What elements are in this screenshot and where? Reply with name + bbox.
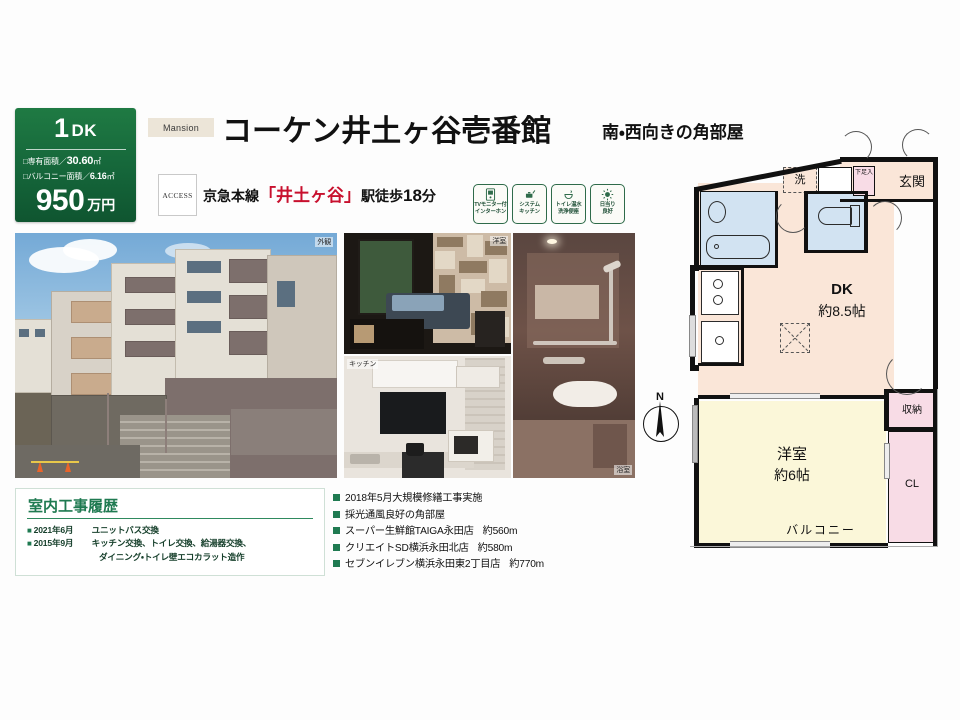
price-amount: 950 [36,184,85,217]
plan-label-storage: 収納 [888,401,936,416]
photo-label-exterior: 外観 [315,237,333,247]
building-name: コーケン井土ヶ谷壱番館 [222,106,551,150]
ceiling-light [547,239,557,244]
bath-door [593,424,627,468]
cardboard-box [354,325,374,343]
exclusive-area-line: □専有面積／30.60㎡ [15,154,136,170]
layout-type: 1DK [15,108,136,142]
shower-rail [609,269,613,345]
cloud-shape [63,239,117,261]
renovation-date: 2021年6月 [34,524,92,537]
photo-exterior: 外観 [15,233,337,478]
wall-niche [535,285,599,319]
renovation-rule [27,518,313,519]
balcony-edge-top [690,546,938,547]
wall-kitchen-right [741,267,744,365]
highlight-distance: 約580m [478,541,513,558]
photo-kitchen: キッチン [344,356,511,478]
photo-label-bath: 浴室 [614,465,632,475]
highlight-text: クリエイトSD横浜永田北店 [345,541,469,558]
feature-badge-group: TVモニター付インターホン システムキッチン トイレ温水洗浄便座 日当り良好 [473,184,625,224]
balcony-block [125,277,181,293]
layout-rooms: 1 [54,113,70,143]
window-kitchen [689,315,696,357]
bullet-square-icon [333,527,340,534]
price-unit: 万円 [87,197,115,213]
wall-panel [378,390,448,436]
list-item: スーパー生鮮館TAIGA永田店 約560m [333,524,633,541]
toilet-fixture [818,207,852,225]
wall-bath-right [775,191,778,268]
exclusive-area-unit: ㎡ [93,157,101,166]
window-shape [187,261,221,273]
price-main: 950万円 [15,186,136,216]
building-subtitle: 南・西向きの角部屋 [602,118,744,143]
renovation-title: 室内工事履歴 [28,495,118,516]
door-swing-top-right [902,129,934,161]
renovation-date: 2015年9月 [34,537,92,550]
feature-label-toilet: トイレ温水洗浄便座 [556,202,582,216]
price-summary-box: 1DK □専有面積／30.60㎡ □バルコニー面積／6.16㎡ 950万円 [15,108,136,222]
floor-plan: 洗 下足入 玄関 DK 約8.5帖 洋室 約6帖 収納 CL [690,143,948,543]
wall-kitchen-bottom [698,363,744,366]
stove-fixture [701,271,739,315]
access-badge: ACCESS [158,174,197,216]
wall-left-upper [694,187,699,265]
plan-label-shoe-box: 下足入 [853,170,875,177]
renovation-item: ■2015年9月キッチン交換、トイレ交換、給湯器交換、 [27,537,319,550]
faucet [543,357,585,364]
door-swing-room [886,353,928,395]
feature-badge-intercom: TVモニター付インターホン [473,184,508,224]
plan-label-balcony: バルコニー [746,521,896,538]
shelf-rack [475,311,505,347]
highlight-text: スーパー生鮮館TAIGA永田店 [345,524,474,541]
plan-area-vestibule [818,167,852,193]
burner-fixture [713,279,723,289]
bullet-square-icon [333,544,340,551]
bike-parking-wall [231,409,337,455]
renovation-work: ユニットバス交換 [92,525,159,535]
window-room-left [692,405,698,463]
photo-label-kitchen: キッチン [347,359,378,369]
property-category-tag: Mansion [148,118,214,137]
window-shape [35,329,45,337]
window-shape [187,321,221,333]
renovation-work: キッチン交換、トイレ交換、給湯器交換、 [92,538,251,548]
wall-storage-left [884,389,888,431]
bullet-square-icon [333,494,340,501]
upper-cabinet [372,360,458,388]
exclusive-area-value: 30.60 [67,155,94,167]
plan-label-closet: CL [888,478,936,490]
cone-bar [31,461,79,463]
toilet-tank-fixture [850,205,860,227]
balcony-area-value: 6.16 [90,171,107,181]
wall-bath-bottom [698,265,778,268]
feature-label-sunshine: 日当り良好 [600,202,616,216]
balcony-edge-right [937,389,938,547]
window-shape [187,291,221,303]
layout-suffix: DK [71,121,97,140]
exclusive-area-label: □専有面積／ [23,157,67,166]
balcony-area-unit: ㎡ [107,172,115,181]
wall-right-upper [933,157,938,389]
plan-room-name-dk: DK [802,281,882,298]
wall-toilet-top [804,191,868,194]
intercom-monitor-icon [483,187,498,201]
apartment-block-right [267,255,337,385]
property-highlights-list: 2018年5月大規模修繕工事実施 採光通風良好の角部屋 スーパー生鮮館TAIGA… [333,491,633,574]
door-swing-bath [776,199,810,233]
sink-drain-fixture [715,336,724,345]
renovation-history-panel: 室内工事履歴 ■2021年6月ユニットバス交換 ■2015年9月キッチン交換、ト… [15,488,325,576]
door-swing-entry [868,201,902,235]
window-closet [884,443,890,479]
list-item: セブンイレブン横浜永田東2丁目店 約770m [333,557,633,574]
balcony-area-line: □バルコニー面積／6.16㎡ [15,170,136,183]
access-walk-suffix: 分 [422,188,436,204]
renovation-item-cont: ダイニング・トイレ壁エコカラット造作 [27,551,319,564]
balcony-block [71,373,115,395]
wall-toilet-bottom [804,250,868,253]
list-item: 2018年5月大規模修繕工事実施 [333,491,633,508]
plan-label-entrance: 玄関 [890,171,934,190]
drain-fixture [714,244,719,249]
access-line-name: 京急本線 [203,188,259,204]
highlight-distance: 約560m [483,524,518,541]
bullet-square-icon [333,511,340,518]
window-shape [19,329,29,337]
price-divider [26,149,126,150]
flyer-page: 1DK □専有面積／30.60㎡ □バルコニー面積／6.16㎡ 950万円 Ma… [0,0,960,720]
microwave-rack [448,430,494,462]
window-shape [277,281,295,307]
towel-bar [533,341,617,345]
access-description: 京急本線「井土ヶ谷」駅徒歩18分 [203,181,436,206]
range-hood [456,366,500,388]
photo-bathroom: 浴室 [513,233,635,478]
feature-badge-kitchen: システムキッチン [512,184,547,224]
wash-basin [553,381,617,407]
access-station-name: 「井土ヶ谷」 [259,186,361,205]
bullet-square-icon [333,560,340,567]
photo-label-room: 洋室 [490,236,508,246]
system-kitchen-icon [522,187,537,201]
access-walk-minutes: 18 [403,186,422,205]
plan-room-size-dk: 約8.5帖 [794,301,890,321]
plan-room-size-washitsu: 約6帖 [748,465,836,485]
sunshine-icon [600,187,615,201]
bedding [392,295,444,311]
highlight-text: 採光通風良好の角部屋 [345,508,445,525]
basin-fixture [708,201,726,223]
renovation-list: ■2021年6月ユニットバス交換 ■2015年9月キッチン交換、トイレ交換、給湯… [27,524,319,564]
window-dk-divider [730,393,820,399]
balcony-block [71,337,115,359]
burner-fixture [713,295,723,305]
list-item: クリエイトSD横浜永田北店 約580m [333,541,633,558]
balcony-block [125,341,181,357]
balcony-block [125,309,181,325]
balcony-area-label: □バルコニー面積／ [23,172,90,181]
compass-rose-icon: N [639,391,681,447]
pipe-shaft-cross-icon [780,323,810,353]
highlight-distance: 約770m [509,557,544,574]
kettle [406,443,424,456]
balcony-block [71,301,115,323]
photo-room: 洋室 [344,233,511,354]
feature-badge-sunshine: 日当り良好 [590,184,625,224]
highlight-text: 2018年5月大規模修繕工事実施 [345,491,482,508]
feature-label-intercom: TVモニター付インターホン [474,202,506,216]
feature-badge-toilet: トイレ温水洗浄便座 [551,184,586,224]
renovation-item: ■2021年6月ユニットバス交換 [27,524,319,537]
access-walk-prefix: 駅徒歩 [361,188,403,204]
plan-room-name-washitsu: 洋室 [750,443,834,464]
handrail [165,399,167,453]
handrail [107,393,109,451]
highlight-text: セブンイレブン横浜永田東2丁目店 [345,557,500,574]
sink [350,454,380,464]
feature-label-kitchen: システムキッチン [519,202,540,216]
wall-storage-bottom [886,427,938,431]
door-swing-top-left [840,131,872,163]
warm-water-toilet-icon [561,187,576,201]
list-item: 採光通風良好の角部屋 [333,508,633,525]
